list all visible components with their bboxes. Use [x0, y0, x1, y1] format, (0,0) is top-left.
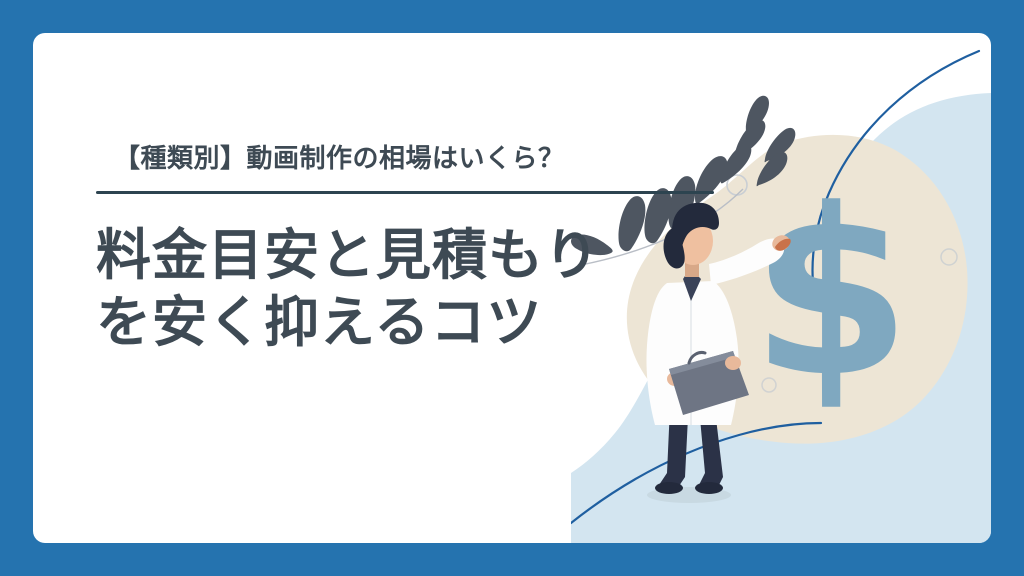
briefcase-icon — [669, 351, 749, 415]
page-title-line-2: を安く抑えるコツ — [96, 289, 736, 356]
title-divider — [96, 191, 714, 194]
outline-circle-icon — [941, 249, 957, 265]
title-text-block: 【種類別】動画制作の相場はいくら？ 料金目安と見積もり を安く抑えるコツ — [96, 143, 736, 356]
outline-circle-icon — [762, 378, 776, 392]
page-title-line-1: 料金目安と見積もり — [96, 222, 736, 289]
curved-line-top-icon — [813, 51, 979, 283]
slide-canvas: $ — [0, 0, 1024, 576]
slide-card: $ — [33, 33, 991, 543]
curved-line-bottom-icon — [571, 423, 821, 523]
dollar-sign-glyph: $ — [751, 161, 911, 428]
slide-subtitle: 【種類別】動画制作の相場はいくら？ — [114, 143, 736, 177]
page-title: 料金目安と見積もり を安く抑えるコツ — [96, 222, 736, 356]
dollar-sign-icon: $ — [751, 161, 911, 428]
